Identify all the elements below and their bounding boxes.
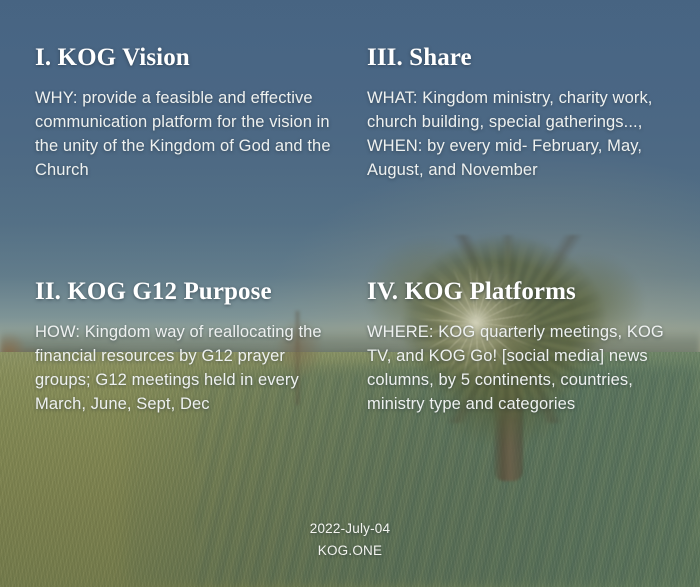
- footer-date: 2022-July-04: [0, 518, 700, 540]
- quadrant-body-share: WHAT: Kingdom ministry, charity work, ch…: [367, 86, 677, 183]
- quadrant-share: III. Share WHAT: Kingdom ministry, chari…: [0, 0, 700, 268]
- footer-site: KOG.ONE: [0, 540, 700, 562]
- content-grid: I. KOG Vision WHY: provide a feasible an…: [0, 0, 700, 587]
- quadrant-body-kog-platforms: WHERE: KOG quarterly meetings, KOG TV, a…: [367, 320, 677, 417]
- quadrant-heading-kog-platforms: IV. KOG Platforms: [367, 278, 684, 306]
- quadrant-heading-share: III. Share: [367, 44, 680, 72]
- infographic-poster: I. KOG Vision WHY: provide a feasible an…: [0, 0, 700, 587]
- footer: 2022-July-04 KOG.ONE: [0, 518, 700, 562]
